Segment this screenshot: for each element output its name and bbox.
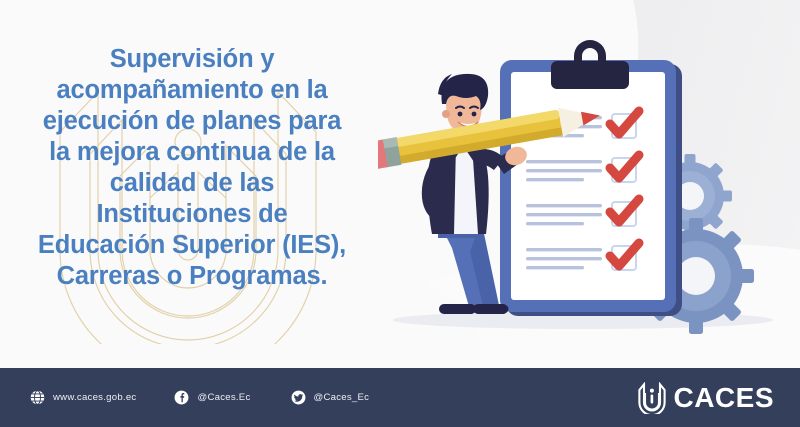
illustration-man-with-checklist	[378, 28, 790, 350]
page-title-line: Supervisión y	[18, 44, 366, 75]
footer-link-label: @Caces_Ec	[314, 392, 370, 403]
caces-u-emblem-icon	[637, 382, 667, 414]
page-title-line: la mejora continua de la	[18, 137, 366, 168]
facebook-icon	[174, 390, 189, 405]
clipboard	[500, 40, 682, 316]
brand-logo: CACES	[637, 368, 774, 427]
clipboard-clip	[551, 40, 629, 89]
footer-links: www.caces.gob.ec@Caces.Ec@Caces_Ec	[30, 368, 369, 427]
globe-icon	[30, 390, 45, 405]
page-title-line: Educación Superior (IES),	[18, 230, 366, 261]
footer-link-label: www.caces.gob.ec	[53, 392, 136, 403]
footer-bar: www.caces.gob.ec@Caces.Ec@Caces_Ec CACES	[0, 368, 800, 427]
footer-link-twitter[interactable]: @Caces_Ec	[291, 368, 370, 427]
page-title-line: Instituciones de	[18, 199, 366, 230]
twitter-icon	[291, 390, 306, 405]
page-title-line: acompañamiento en la	[18, 75, 366, 106]
footer-link-label: @Caces.Ec	[197, 392, 250, 403]
page-title: Supervisión yacompañamiento en laejecuci…	[18, 44, 366, 292]
footer-link-facebook[interactable]: @Caces.Ec	[174, 368, 250, 427]
page-title-line: Carreras o Programas.	[18, 261, 366, 292]
brand-name: CACES	[673, 384, 774, 412]
page-title-line: calidad de las	[18, 168, 366, 199]
banner-canvas: Supervisión yacompañamiento en laejecuci…	[0, 0, 800, 427]
footer-link-globe[interactable]: www.caces.gob.ec	[30, 368, 136, 427]
page-title-line: ejecución de planes para	[18, 106, 366, 137]
